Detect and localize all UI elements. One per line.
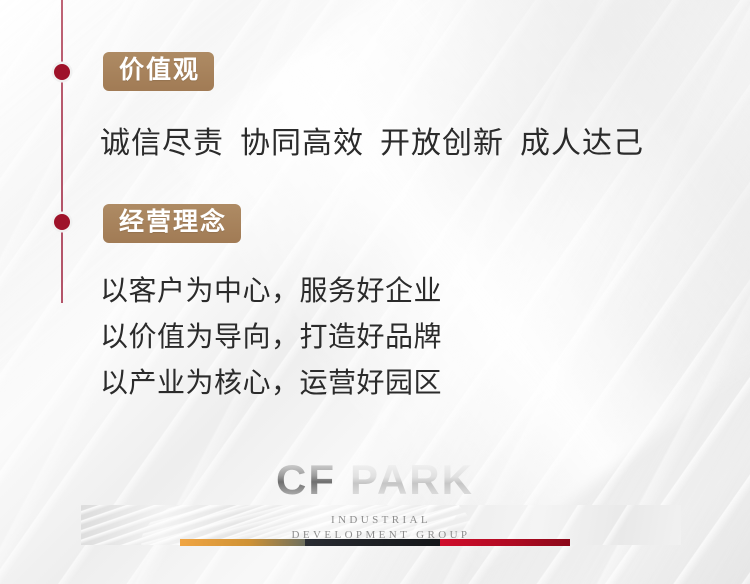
logo-text-cf: CF <box>276 456 336 503</box>
logo-text-park: PARK <box>350 456 474 503</box>
value-item-3: 开放创新 <box>380 127 504 160</box>
value-item-1: 诚信尽责 <box>100 127 224 160</box>
philosophy-line-1: 以客户为中心，服务好企业 <box>100 268 442 314</box>
timeline-dot-values <box>54 64 70 80</box>
slide-canvas: 价值观 诚信尽责协同高效开放创新成人达己 经营理念 以客户为中心，服务好企业 以… <box>0 0 750 584</box>
philosophy-line-3: 以产业为核心，运营好园区 <box>100 360 442 406</box>
tricolor-segment-black <box>305 539 440 546</box>
tricolor-segment-red <box>440 539 570 546</box>
brand-logo-wordmark: CFPARK <box>0 459 750 501</box>
philosophy-line-2: 以价值为导向，打造好品牌 <box>100 314 442 360</box>
footer-tricolor-rule <box>180 539 570 546</box>
value-item-2: 协同高效 <box>240 127 364 160</box>
philosophy-content-block: 以客户为中心，服务好企业 以价值为导向，打造好品牌 以产业为核心，运营好园区 <box>100 268 442 406</box>
value-item-4: 成人达己 <box>520 127 644 160</box>
timeline-rail-line <box>61 0 63 303</box>
timeline-dot-philosophy <box>54 214 70 230</box>
footer-tagline-line-1: INDUSTRIAL <box>331 514 431 526</box>
section-badge-philosophy: 经营理念 <box>103 204 241 243</box>
tricolor-segment-gold <box>180 539 305 546</box>
section-badge-values: 价值观 <box>103 52 214 91</box>
values-content-line: 诚信尽责协同高效开放创新成人达己 <box>100 118 644 162</box>
